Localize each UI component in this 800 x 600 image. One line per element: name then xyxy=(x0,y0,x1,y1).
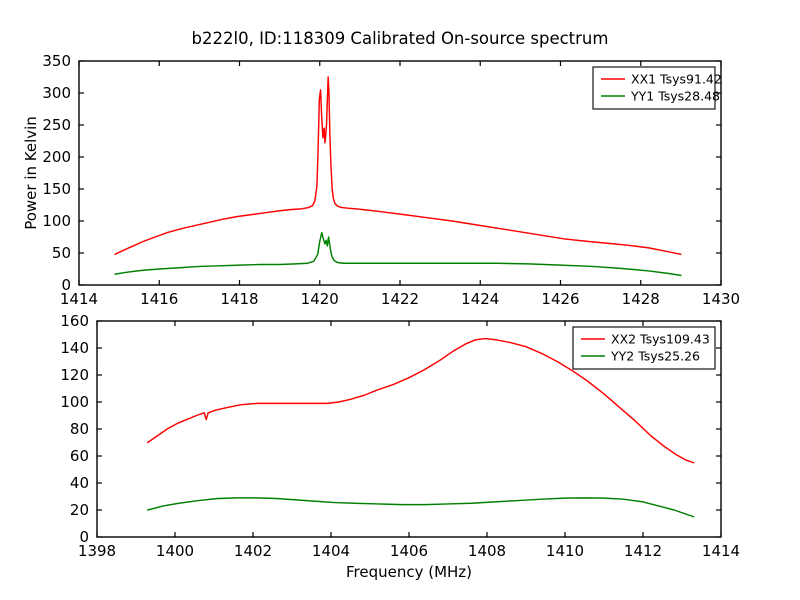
bottom-spectrum-panel: 1398140014021404140614081410141214140204… xyxy=(60,312,740,581)
bottom-xtick-label: 1404 xyxy=(312,542,350,560)
bottom-ytick-label: 60 xyxy=(70,447,89,465)
bottom-ytick-label: 0 xyxy=(79,528,89,546)
top-ytick-label: 200 xyxy=(42,148,71,166)
bottom-xtick-label: 1400 xyxy=(156,542,194,560)
top-xtick-label: 1422 xyxy=(381,290,419,308)
bottom-xtick-label: 1414 xyxy=(702,542,740,560)
bottom-trace-yy xyxy=(148,498,694,517)
top-xtick-label: 1430 xyxy=(702,290,740,308)
bottom-xtick-label: 1412 xyxy=(624,542,662,560)
top-spectrum-panel: 1414141614181420142214241426142814300501… xyxy=(22,52,740,308)
bottom-xtick-label: 1410 xyxy=(546,542,584,560)
figure-canvas: b222l0, ID:118309 Calibrated On-source s… xyxy=(0,0,800,600)
top-legend-label: XX1 Tsys91.42 xyxy=(631,72,722,87)
top-ytick-label: 300 xyxy=(42,84,71,102)
top-xtick-label: 1426 xyxy=(541,290,579,308)
bottom-ytick-label: 140 xyxy=(60,339,89,357)
bottom-ytick-label: 20 xyxy=(70,501,89,519)
top-ytick-label: 100 xyxy=(42,212,71,230)
top-ytick-label: 350 xyxy=(42,52,71,70)
top-legend-label: YY1 Tsys28.48 xyxy=(630,89,720,104)
top-xtick-label: 1420 xyxy=(301,290,339,308)
bottom-xtick-label: 1408 xyxy=(468,542,506,560)
bottom-ytick-label: 120 xyxy=(60,366,89,384)
top-xtick-label: 1428 xyxy=(622,290,660,308)
spectrum-figure: b222l0, ID:118309 Calibrated On-source s… xyxy=(0,0,800,600)
top-ytick-label: 150 xyxy=(42,180,71,198)
bottom-ytick-label: 160 xyxy=(60,312,89,330)
bottom-panel-xlabel: Frequency (MHz) xyxy=(346,563,472,581)
top-trace-yy xyxy=(115,233,681,276)
page-title: b222l0, ID:118309 Calibrated On-source s… xyxy=(192,29,609,48)
top-xtick-label: 1418 xyxy=(220,290,258,308)
top-ytick-label: 250 xyxy=(42,116,71,134)
top-ytick-label: 0 xyxy=(61,276,71,294)
top-xtick-label: 1416 xyxy=(140,290,178,308)
top-panel-ylabel: Power in Kelvin xyxy=(22,116,40,230)
bottom-legend-label: XX2 Tsys109.43 xyxy=(611,332,710,347)
bottom-ytick-label: 40 xyxy=(70,474,89,492)
bottom-legend-label: YY2 Tsys25.26 xyxy=(610,349,700,364)
bottom-xtick-label: 1406 xyxy=(390,542,428,560)
bottom-ytick-label: 100 xyxy=(60,393,89,411)
bottom-xtick-label: 1402 xyxy=(234,542,272,560)
top-xtick-label: 1424 xyxy=(461,290,499,308)
bottom-ytick-label: 80 xyxy=(70,420,89,438)
top-ytick-label: 50 xyxy=(52,244,71,262)
